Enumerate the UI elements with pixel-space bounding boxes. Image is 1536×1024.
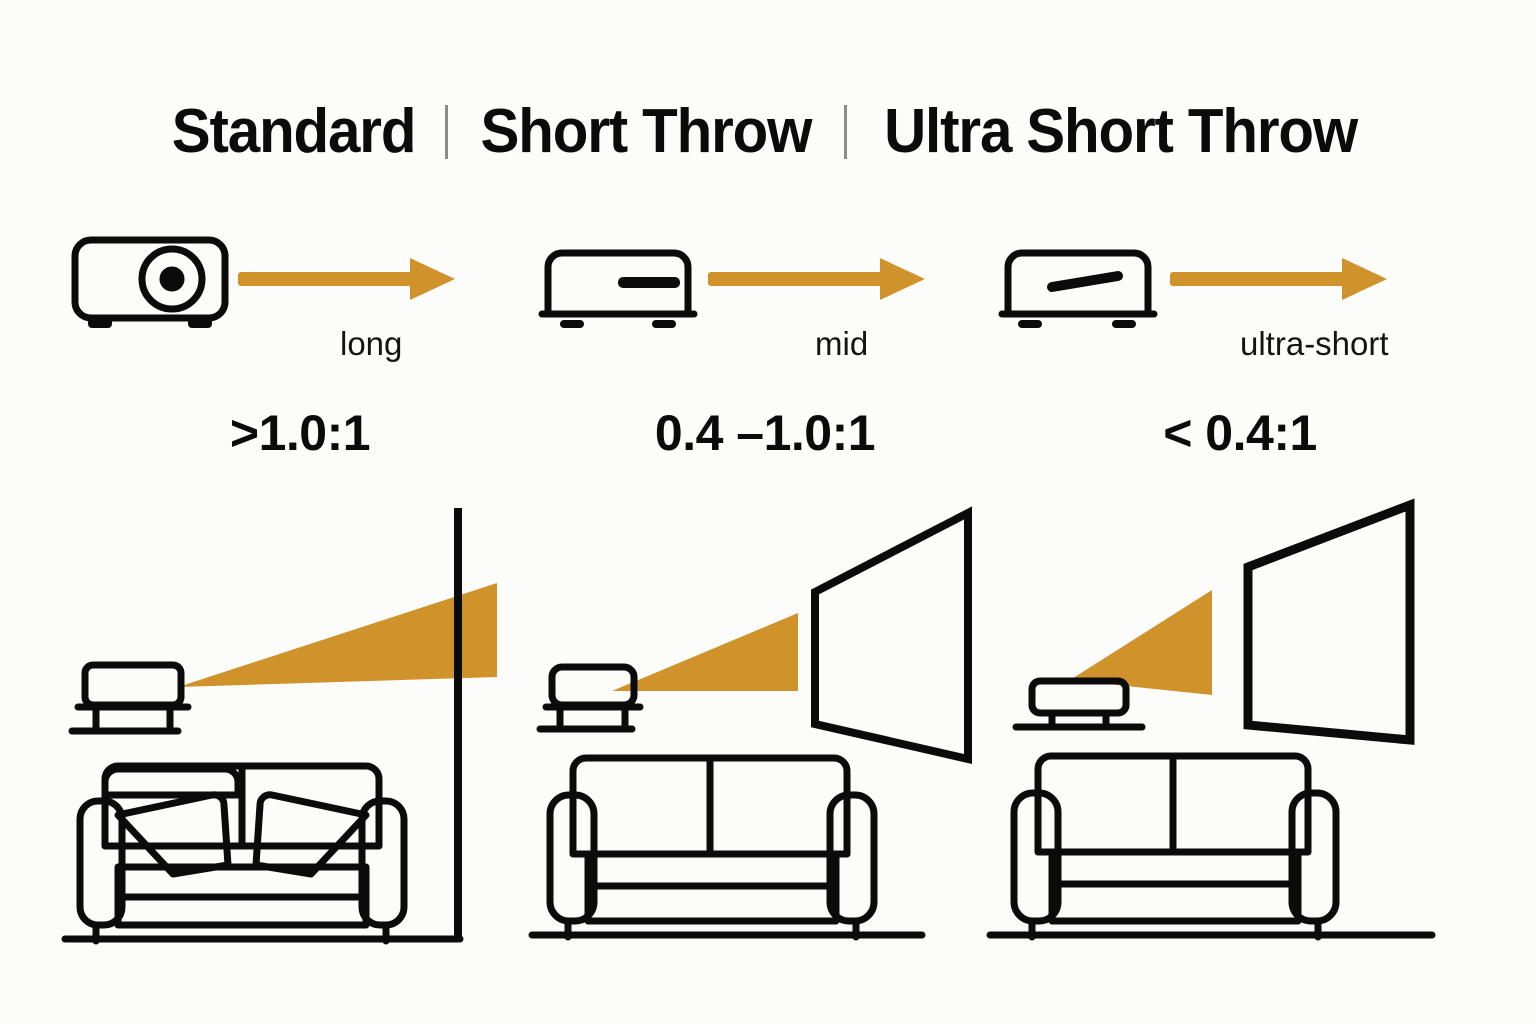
ultra-short-throw-scene-drawing (990, 495, 1490, 955)
ratio-ultra-short-throw: < 0.4:1 (990, 404, 1490, 462)
beam-wedge-long (178, 583, 497, 687)
ratio-standard: >1.0:1 (60, 404, 540, 462)
arrow-right-icon (238, 258, 455, 300)
sofa-plain-icon (550, 758, 874, 937)
standard-icon-row (60, 232, 540, 342)
short-throw-projector-and-arrow (530, 232, 990, 342)
scene-standard (60, 495, 540, 955)
projector-feet-icon (560, 320, 676, 328)
standard-projector-and-arrow (60, 232, 520, 342)
throw-label-mid: mid (815, 325, 868, 363)
screen-perspective-quad-large (1248, 505, 1410, 740)
throw-label-long: long (340, 325, 402, 363)
projector-lens-slot-icon (618, 277, 680, 288)
projector-on-table-icon (72, 665, 188, 731)
short-throw-scene-drawing (530, 495, 1000, 955)
ultra-short-throw-projector-and-arrow (990, 232, 1460, 342)
sofa-with-pillows-icon (80, 766, 404, 941)
projector-ust-on-stand-icon (1016, 681, 1142, 727)
projector-on-table-icon (540, 667, 640, 729)
arrow-right-icon (1170, 258, 1387, 300)
sofa-plain-icon (1014, 756, 1336, 937)
throw-label-ultra-short: ultra-short (1240, 325, 1389, 363)
projector-feet-icon (1018, 320, 1136, 328)
column-standard: long >1.0:1 (60, 0, 540, 1024)
screen-perspective-quad (815, 513, 968, 759)
infographic-canvas: Standard Short Throw Ultra Short Throw (0, 0, 1536, 1024)
standard-scene-drawing (60, 495, 540, 955)
short-throw-icon-row (530, 232, 1000, 342)
beam-wedge-mid (612, 613, 798, 691)
column-ultra-short-throw: ultra-short < 0.4:1 (990, 0, 1490, 1024)
arrow-right-icon (708, 258, 925, 300)
ratio-short-throw: 0.4 –1.0:1 (530, 404, 1000, 462)
scene-ultra-short-throw (990, 495, 1490, 955)
projector-lens-slot-icon (1052, 276, 1118, 287)
scene-short-throw (530, 495, 1000, 955)
column-short-throw: mid 0.4 –1.0:1 (530, 0, 1000, 1024)
projector-box-round-lens-icon (75, 240, 225, 318)
